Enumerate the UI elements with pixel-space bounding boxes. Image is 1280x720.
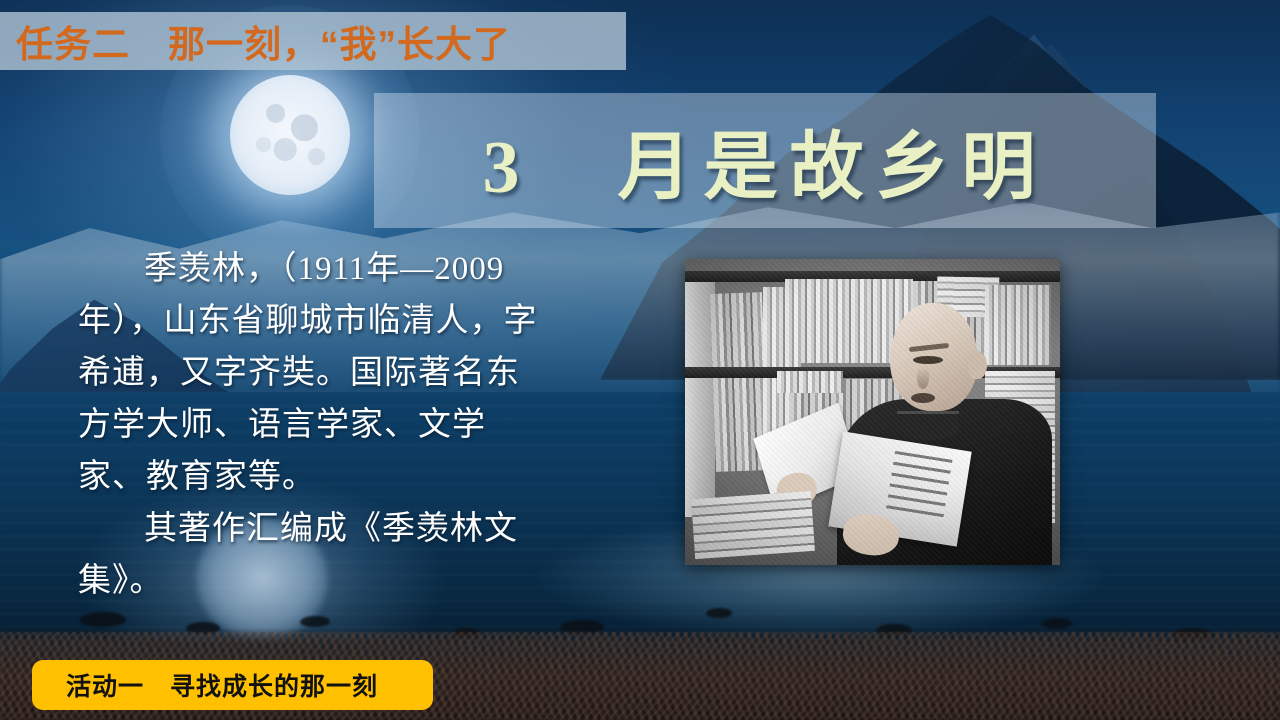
task-header-label: 任务二 那一刻，“我”长大了	[16, 14, 511, 68]
photo-person-mouth	[911, 393, 935, 403]
title-panel: 3 月是故乡明	[374, 93, 1156, 228]
photo-person-eye	[913, 356, 943, 364]
photo-book-text-lines	[886, 451, 953, 521]
photo-person-nose	[917, 367, 929, 389]
shore-rock	[300, 616, 330, 627]
moon-icon	[230, 75, 350, 195]
page-title: 3 月是故乡明	[483, 107, 1048, 214]
activity-label: 活动一 寻找成长的那一刻	[66, 667, 378, 703]
bio-paragraph-2: 其著作汇编成《季羡林文集》。	[78, 503, 548, 607]
slide-canvas: 任务二 那一刻，“我”长大了 3 月是故乡明 季羡林，（1911年—2009年）…	[0, 0, 1280, 720]
task-header-banner: 任务二 那一刻，“我”长大了	[0, 12, 626, 70]
photo-bottom-book-stack	[691, 491, 815, 559]
bio-paragraph-1: 季羡林，（1911年—2009年），山东省聊城市临清人，字希逋，又字齐奘。国际著…	[78, 243, 548, 503]
author-photo-image	[685, 259, 1060, 565]
author-photo	[685, 259, 1060, 565]
activity-banner: 活动一 寻找成长的那一刻	[32, 660, 433, 710]
photo-books	[777, 371, 843, 393]
shore-rock	[80, 612, 126, 627]
shore-rock	[706, 608, 732, 618]
photo-person-collar	[897, 411, 959, 440]
author-bio-text: 季羡林，（1911年—2009年），山东省聊城市临清人，字希逋，又字齐奘。国际著…	[78, 243, 548, 607]
photo-person-ear	[968, 351, 987, 379]
photo-books	[985, 285, 1051, 365]
